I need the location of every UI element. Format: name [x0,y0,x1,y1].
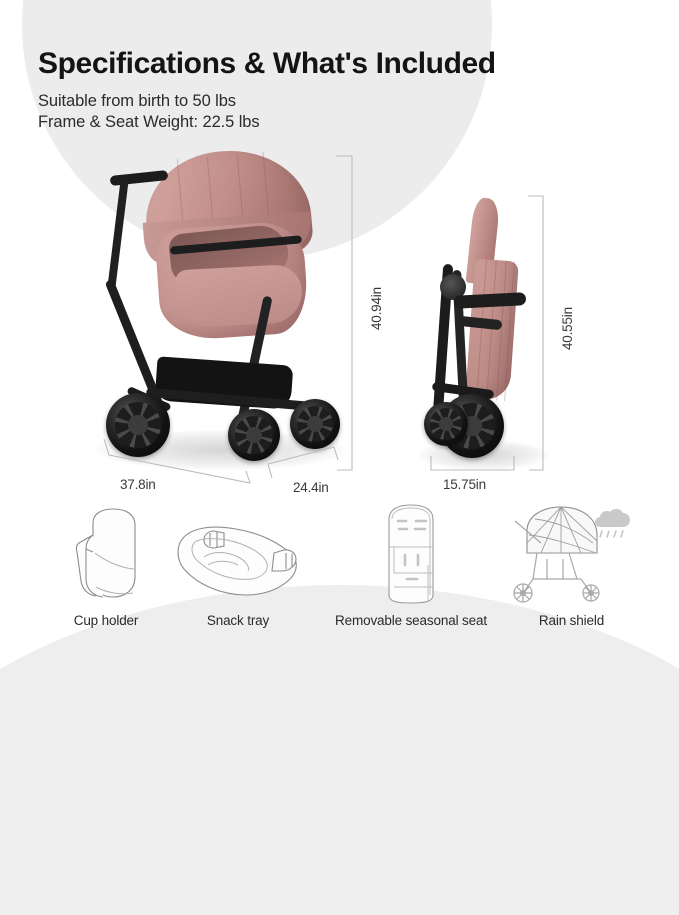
accessory-item-cup-holder: Cup holder [36,500,176,628]
seasonal-seat-art [300,500,522,605]
stroller-open-image [100,145,350,465]
front-wheel-right [290,399,340,449]
accessories-row: Cup holder [0,500,679,660]
stroller-folded-image [418,198,538,468]
handlebar-post [107,179,128,289]
front-wheel-left [228,409,280,461]
spec-line-frame-weight: Frame & Seat Weight: 22.5 lbs [38,113,496,132]
cup-holder-art [36,500,176,605]
seat-cushion [175,264,304,329]
accessory-label-cup-holder: Cup holder [36,613,176,628]
accessory-item-seasonal-seat: Removable seasonal seat [300,500,522,628]
accessory-item-rain-shield: Rain shield [494,500,649,628]
page-title: Specifications & What's Included [38,47,496,81]
accessory-label-snack-tray: Snack tray [168,613,308,628]
folded-seat [465,259,519,402]
product-illustration-area [0,140,679,505]
accessory-item-snack-tray: Snack tray [168,500,308,628]
cup-holder-icon [63,505,149,605]
rain-shield-art [494,500,649,605]
folded-front-wheel [424,402,468,446]
header: Specifications & What's Included Suitabl… [38,47,496,132]
cloud-icon [595,509,630,537]
rain-shield-icon [507,501,637,605]
rear-wheel [106,393,170,457]
snack-tray-art [168,500,308,605]
spec-line-weight-range: Suitable from birth to 50 lbs [38,92,496,111]
accessory-label-seasonal-seat: Removable seasonal seat [300,613,522,628]
snack-tray-icon [168,513,308,605]
accessory-label-rain-shield: Rain shield [494,613,649,628]
specifications-panel: Specifications & What's Included Suitabl… [0,0,679,679]
seasonal-seat-icon [381,503,441,605]
